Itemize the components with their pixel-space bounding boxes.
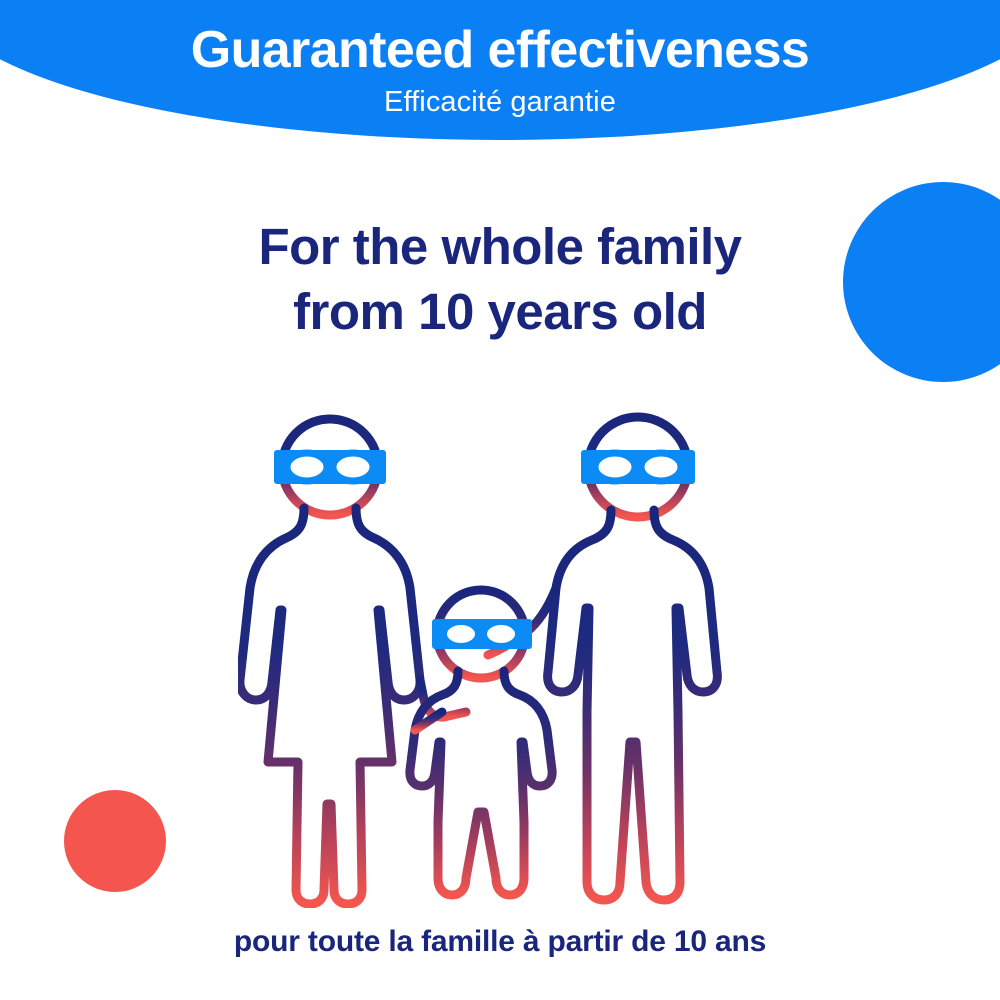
- poster-root: Guaranteed effectiveness Efficacité gara…: [0, 0, 1000, 1000]
- caption-text: pour toute la famille à partir de 10 ans: [0, 925, 1000, 959]
- mother-figure: [240, 419, 466, 904]
- header-banner: [0, 0, 1000, 140]
- page-title: For the whole family from 10 years old: [0, 214, 1000, 345]
- goggles-child-icon: [432, 619, 532, 649]
- family-swimmers-illustration: [238, 412, 762, 908]
- goggles-father-icon: [581, 450, 695, 484]
- goggles-mother-icon: [274, 450, 386, 484]
- page-title-line-1: For the whole family: [0, 214, 1000, 279]
- page-title-line-2: from 10 years old: [0, 279, 1000, 344]
- red-circle-decoration: [64, 790, 166, 892]
